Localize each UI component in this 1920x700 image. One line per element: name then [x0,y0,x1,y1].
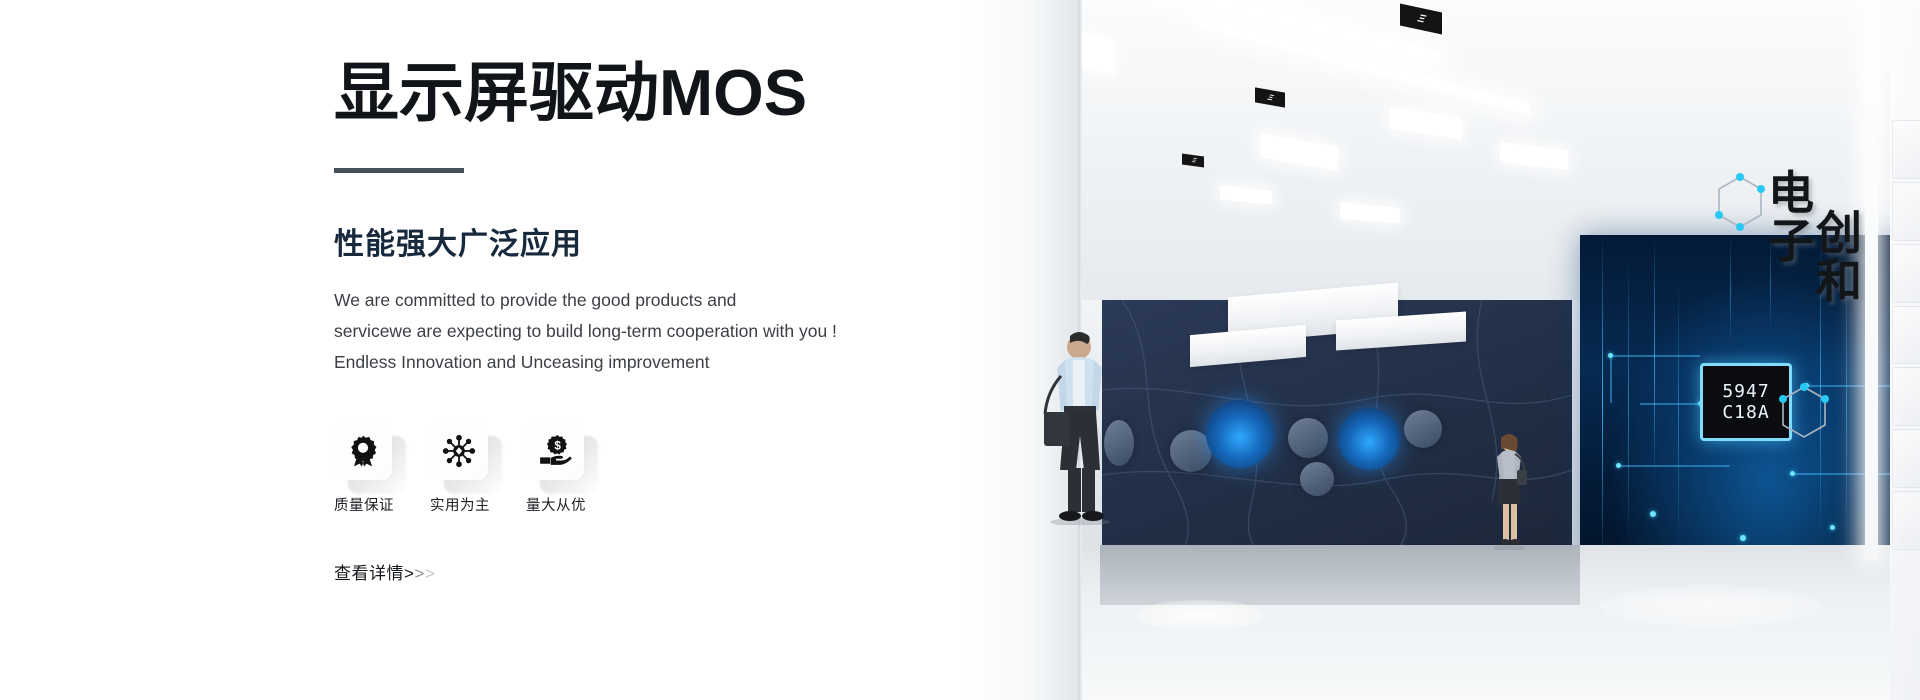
exhibit-photo-circle [1404,410,1442,448]
exhibit-chip-circle [1206,400,1274,468]
hero-banner: 显示屏驱动MOS 性能强大广泛应用 We are committed to pr… [0,0,1920,700]
feature-label: 质量保证 [334,494,394,515]
network-hub-icon [442,434,476,468]
page-title: 显示屏驱动MOS [334,58,934,128]
floor-reflection [1600,585,1820,627]
signage-column-front: 电 子 [1768,170,1814,266]
feature-item-practical[interactable]: 实用为主 [430,422,492,515]
chevron-2-icon: > [414,564,424,584]
person-standing-man [1020,330,1140,525]
description-paragraph: We are committed to provide the good pro… [334,285,894,378]
wall-tile [1892,491,1920,550]
title-divider [334,168,464,173]
banner-content: 显示屏驱动MOS 性能强大广泛应用 We are committed to pr… [334,58,934,584]
chip-code-line-2: C18A [1722,402,1769,423]
wall-tile [1892,244,1920,303]
feature-item-bulk-discount[interactable]: $ 量大从优 [526,422,588,515]
signage-char: 和 [1816,258,1862,306]
wall-tile [1892,429,1920,488]
hand-money-gear-icon: $ [538,434,572,468]
svg-text:$: $ [554,440,561,453]
description-line-2: servicewe are expecting to build long-te… [334,316,894,347]
sub-headline: 性能强大广泛应用 [334,219,934,263]
description-line-3: Endless Innovation and Unceasing improve… [334,347,894,378]
feature-label: 实用为主 [430,494,490,515]
floor-dark-strip [1100,545,1580,605]
description-line-1: We are committed to provide the good pro… [334,285,894,316]
wall-signage: 电 子 创 和 [1768,170,1862,306]
chip-code-line-1: 5947 [1722,381,1769,402]
signage-char: 子 [1768,218,1814,266]
exhibit-chip-circle [1338,408,1400,470]
view-details-link[interactable]: 查看详情 > > > [334,559,435,584]
feature-tile [334,422,392,480]
wall-vertical-light [1865,0,1878,560]
award-medal-icon [346,434,380,468]
person-walking-woman [1477,432,1541,550]
feature-label: 量大从优 [526,494,586,515]
chevron-1-icon: > [404,564,414,584]
feature-tile: $ [526,422,584,480]
exhibit-photo-circle [1300,462,1334,496]
banner-text-pane: 显示屏驱动MOS 性能强大广泛应用 We are committed to pr… [0,0,960,700]
molecule-hex-icon-bottom [1776,382,1832,444]
wall-tile [1892,182,1920,241]
wall-tile [1892,306,1920,365]
feature-item-quality[interactable]: 质量保证 [334,422,396,515]
embossed-tile-grid [1892,120,1920,550]
view-details-label: 查看详情 [334,559,404,584]
signage-char: 创 [1816,210,1862,258]
feature-list: 质量保证 [334,422,934,515]
chevron-3-icon: > [425,564,435,584]
feature-tile [430,422,488,480]
signage-column-back: 创 和 [1816,210,1862,306]
signage-char: 电 [1768,170,1814,218]
molecule-hex-icon-top [1712,172,1768,234]
wall-tile [1892,120,1920,179]
wall-tile [1892,367,1920,426]
showroom-photo: Ξ Ξ Ξ [960,0,1920,700]
floor-reflection [1135,600,1265,630]
exhibit-photo-circle [1288,418,1328,458]
